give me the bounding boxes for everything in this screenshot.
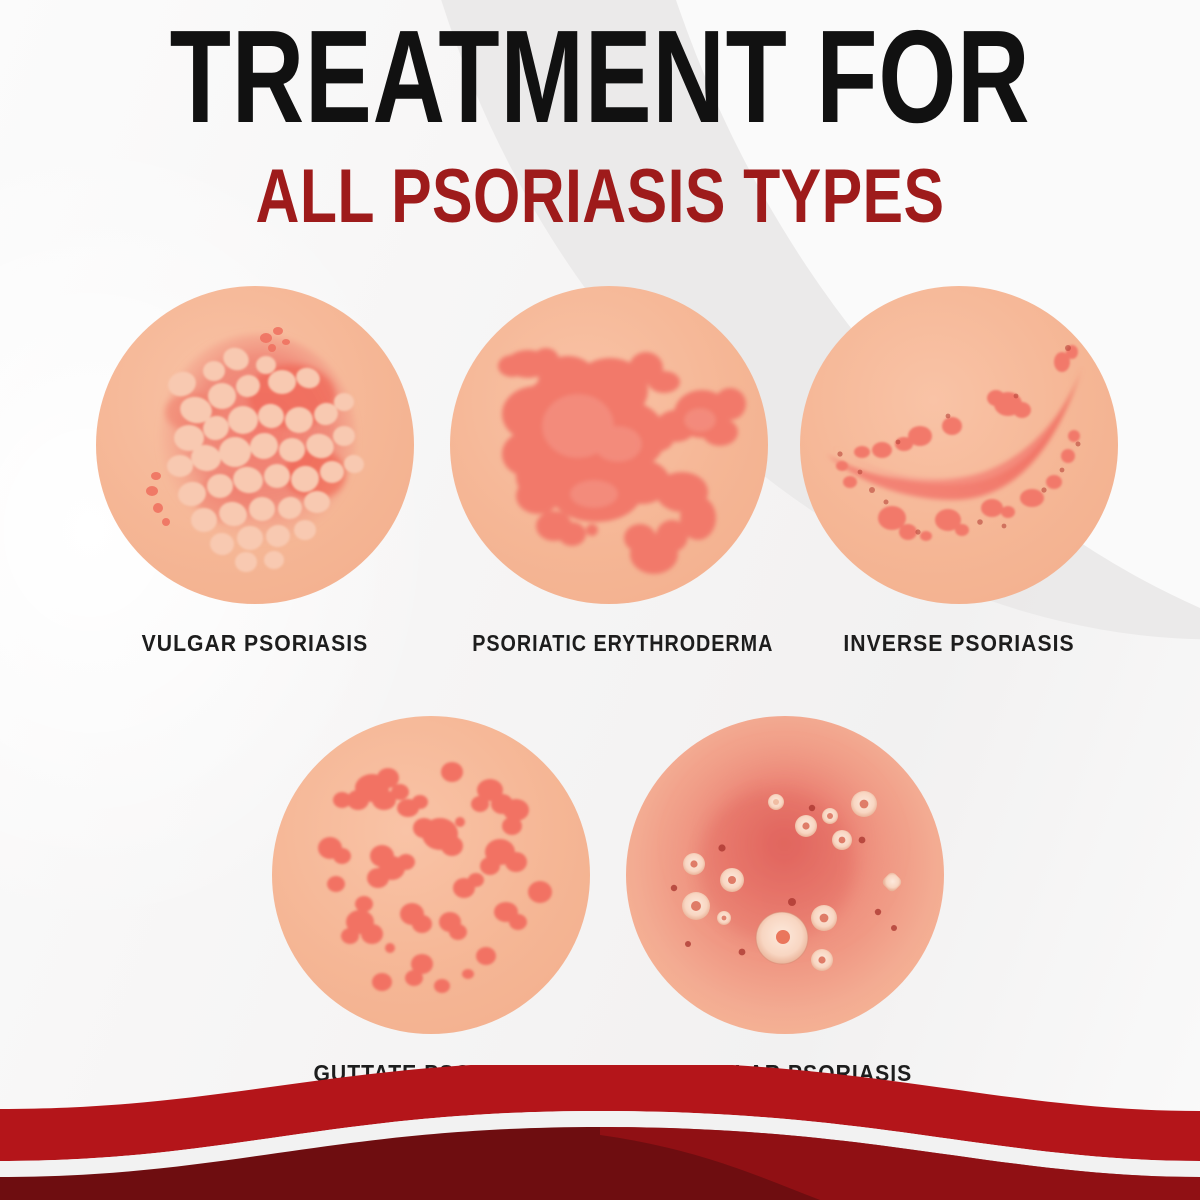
poster-heading-block: TREATMENT FOR ALL PSORIASIS TYPES bbox=[0, 16, 1200, 235]
specimen-label-pustular-psoriasis: PUSTULAR PSORIASIS bbox=[639, 1060, 932, 1087]
specimen-inverse-psoriasis[interactable]: INVERSE PSORIASIS bbox=[800, 286, 1118, 657]
specimen-image-psoriatic-erythroderma bbox=[450, 286, 768, 604]
specimen-pustular-psoriasis[interactable]: PUSTULAR PSORIASIS bbox=[626, 716, 944, 1087]
specimen-label-psoriatic-erythroderma: PSORIATIC ERYTHRODERMA bbox=[472, 630, 745, 657]
specimen-image-inverse-psoriasis bbox=[800, 286, 1118, 604]
psoriasis-types-poster: TREATMENT FOR ALL PSORIASIS TYPES bbox=[0, 0, 1200, 1200]
page-subtitle: ALL PSORIASIS TYPES bbox=[120, 159, 1080, 235]
page-title: TREATMENT FOR bbox=[144, 16, 1056, 137]
specimen-image-guttate-psoriasis bbox=[272, 716, 590, 1034]
specimen-image-pustular-psoriasis bbox=[626, 716, 944, 1034]
specimen-psoriatic-erythroderma[interactable]: PSORIATIC ERYTHRODERMA bbox=[450, 286, 768, 657]
specimen-label-guttate-psoriasis: GUTTATE PSORIASIS bbox=[285, 1060, 578, 1087]
specimen-label-inverse-psoriasis: INVERSE PSORIASIS bbox=[813, 630, 1106, 657]
specimen-vulgar-psoriasis[interactable]: VULGAR PSORIASIS bbox=[96, 286, 414, 657]
specimen-guttate-psoriasis[interactable]: GUTTATE PSORIASIS bbox=[272, 716, 590, 1087]
specimen-image-vulgar-psoriasis bbox=[96, 286, 414, 604]
specimen-label-vulgar-psoriasis: VULGAR PSORIASIS bbox=[109, 630, 402, 657]
